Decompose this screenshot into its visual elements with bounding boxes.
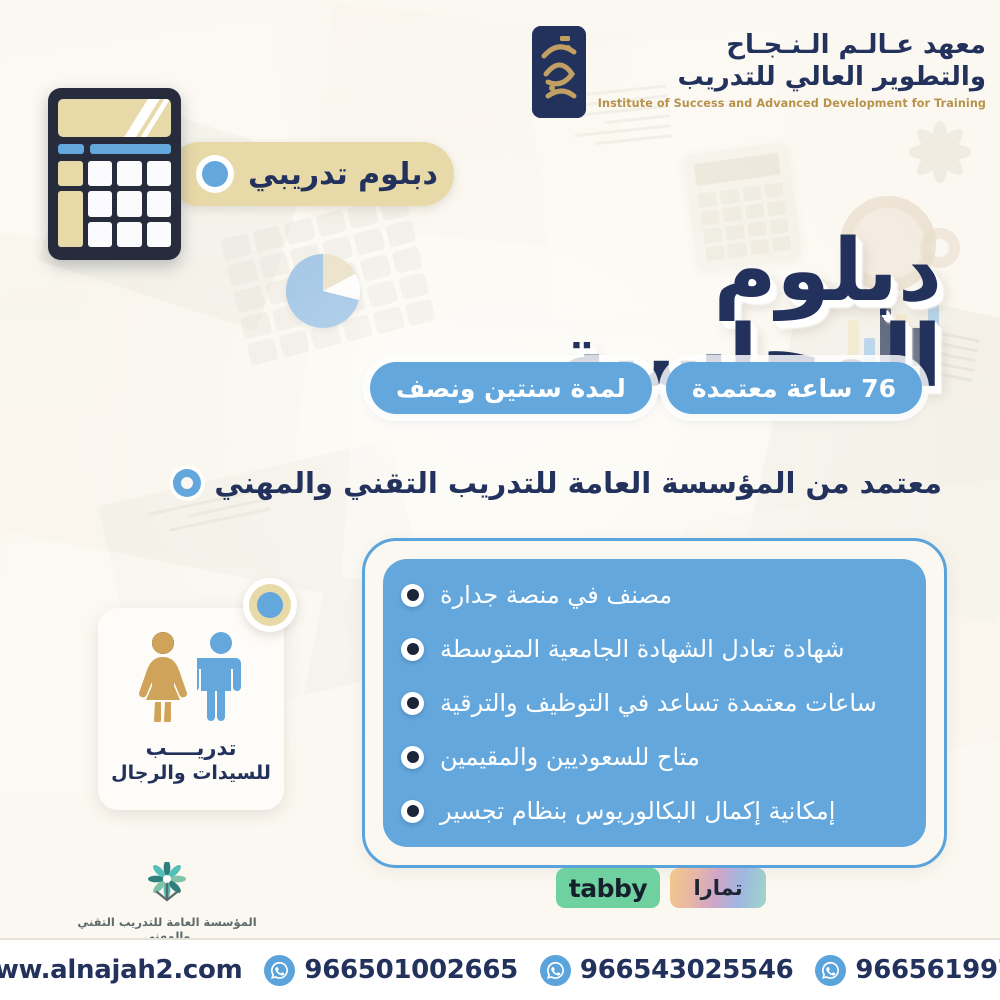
male-figure-icon [197,630,245,722]
contact-phone-1[interactable]: 966501002665 [264,955,518,986]
ring-bullet-icon [173,469,201,497]
benefit-label: متاح للسعوديين والمقيمين [440,743,700,771]
calculator-illustration [48,88,181,260]
phone-label: 966561997746 [855,955,1000,985]
list-item: ساعات معتمدة تساعد في التوظيف والترقية [401,689,900,717]
tabby-badge[interactable]: tabby [556,868,660,908]
diploma-badge-label: دبلوم تدريبي [248,157,438,192]
list-item: متاح للسعوديين والمقيمين [401,743,900,771]
whatsapp-icon [815,955,846,986]
training-audience-line-1: تدريــــب [146,736,237,760]
audience-figures [137,630,245,722]
brand-arabic-line-2: والتطوير العالي للتدريب [598,62,986,94]
bullet-icon [401,638,424,661]
poster-root: معهد عـالـم الـنـجـاح والتطوير العالي لل… [0,0,1000,1000]
phone-label: 966501002665 [304,955,518,985]
calculator-display [58,99,171,137]
duration-pill: لمدة سنتين ونصف [370,362,652,414]
contact-phone-3[interactable]: 966561997746 [815,955,1000,986]
accreditation-line: معتمد من المؤسسة العامة للتدريب التقني و… [173,466,942,500]
contact-phone-2[interactable]: 966543025546 [540,955,794,986]
calculator-keypad [58,161,171,247]
brand-header: معهد عـالـم الـنـجـاح والتطوير العالي لل… [532,26,986,118]
payment-methods: تمارا tabby [556,868,766,908]
contact-bar: www.alnajah2.com 966501002665 9665430255… [0,938,1000,1000]
benefit-label: ساعات معتمدة تساعد في التوظيف والترقية [440,689,877,717]
bullet-icon [401,692,424,715]
list-item: مصنف في منصة جدارة [401,581,900,609]
contact-website[interactable]: www.alnajah2.com [0,955,242,986]
training-audience-line-2: للسيدات والرجال [111,762,271,784]
benefit-label: مصنف في منصة جدارة [440,581,672,609]
list-item: إمكانية إكمال البكالوريوس بنظام تجسير [401,797,900,825]
training-card-badge-icon [243,578,297,632]
benefit-label: شهادة تعادل الشهادة الجامعية المتوسطة [440,635,844,663]
whatsapp-icon [540,955,571,986]
bullet-icon [401,584,424,607]
list-item: شهادة تعادل الشهادة الجامعية المتوسطة [401,635,900,663]
benefits-card: مصنف في منصة جدارة شهادة تعادل الشهادة ا… [362,538,947,868]
credit-hours-pill: 76 ساعة معتمدة [666,362,922,414]
whatsapp-icon [264,955,295,986]
bullet-icon [401,746,424,769]
diploma-type-badge: دبلوم تدريبي [168,142,454,206]
course-info-pills: 76 ساعة معتمدة لمدة سنتين ونصف [370,362,922,414]
bullet-icon [401,800,424,823]
website-label: www.alnajah2.com [0,955,242,985]
alnajah-logo-icon [532,26,586,118]
training-audience-card: تدريــــب للسيدات والرجال [98,608,284,810]
accreditation-label: معتمد من المؤسسة العامة للتدريب التقني و… [214,466,942,500]
phone-label: 966543025546 [580,955,794,985]
brand-arabic-line-1: معهد عـالـم الـنـجـاح [598,30,986,62]
female-figure-icon [137,630,189,722]
brand-text-block: معهد عـالـم الـنـجـاح والتطوير العالي لل… [598,26,986,110]
tvtc-star-logo-icon [138,862,196,908]
calculator-bar-row [58,144,171,154]
tamara-badge[interactable]: تمارا [670,868,766,908]
blue-dot-icon [196,155,234,193]
benefits-list: مصنف في منصة جدارة شهادة تعادل الشهادة ا… [383,559,926,847]
brand-english-tagline: Institute of Success and Advanced Develo… [598,97,986,110]
benefit-label: إمكانية إكمال البكالوريوس بنظام تجسير [440,797,835,825]
